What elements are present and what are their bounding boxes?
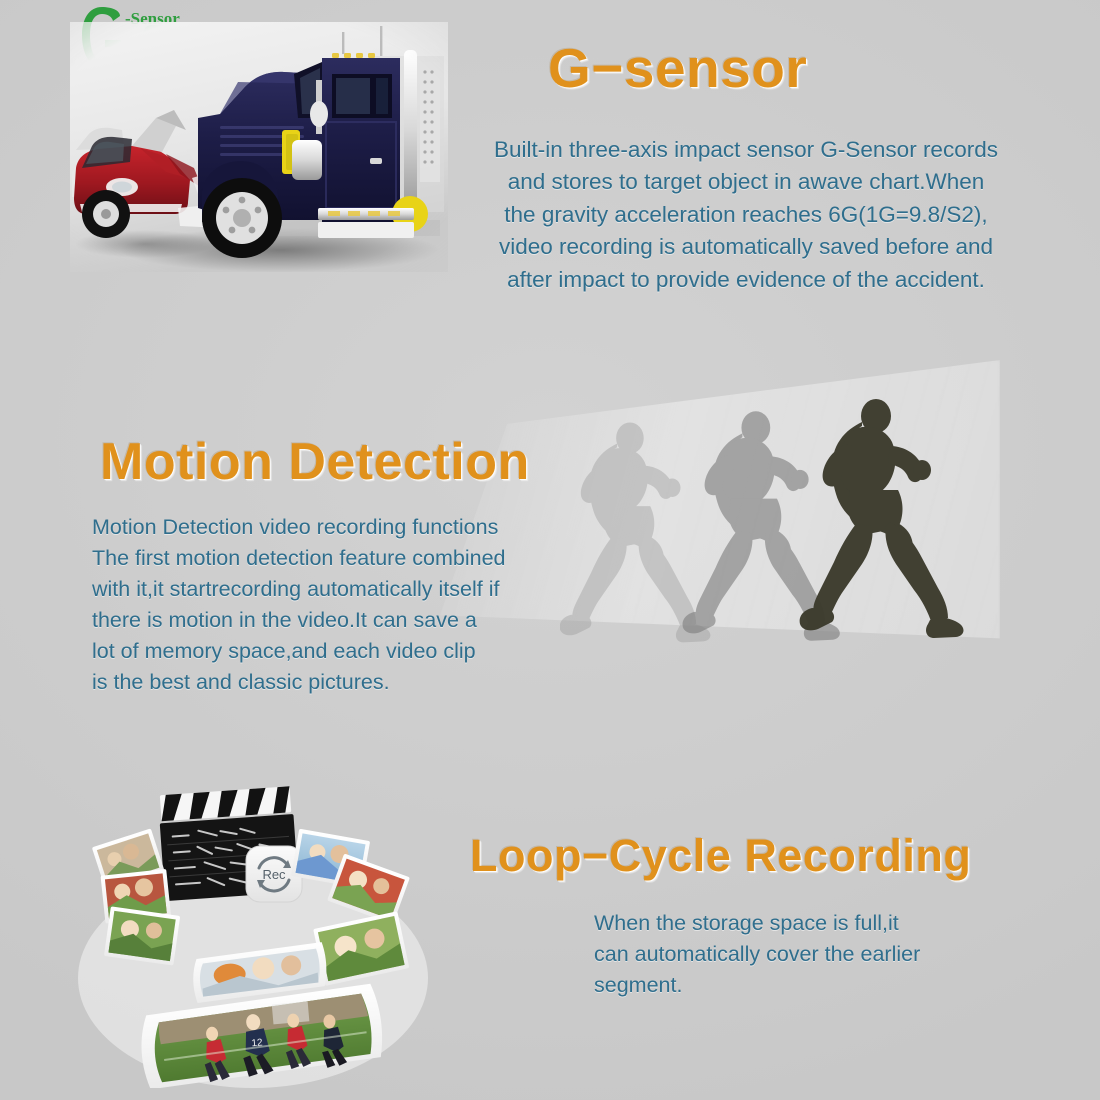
photo-collage-loop: Rec — [78, 778, 428, 1088]
section-gsensor: -Sensor — [0, 0, 1100, 300]
section-title-loop-cycle-recording: Loop−Cycle Recording — [470, 830, 971, 882]
section-body-gsensor: Built-in three-axis impact sensor G-Sens… — [466, 134, 1026, 296]
section-title-motion-detection: Motion Detection — [100, 432, 530, 492]
rec-button-label: Rec — [262, 867, 286, 882]
running-men-silhouettes — [560, 370, 990, 660]
truck-car-crash-photo — [70, 22, 448, 272]
infographic-page: -Sensor — [0, 0, 1100, 1100]
section-body-loop-cycle-recording: When the storage space is full,it can au… — [594, 908, 994, 1001]
section-loop-cycle-recording: Rec — [0, 760, 1100, 1100]
section-body-motion-detection: Motion Detection video recording functio… — [92, 512, 562, 698]
section-title-gsensor: G−sensor — [548, 36, 807, 100]
section-motion-detection: Motion Detection Motion Detection video … — [0, 350, 1100, 730]
